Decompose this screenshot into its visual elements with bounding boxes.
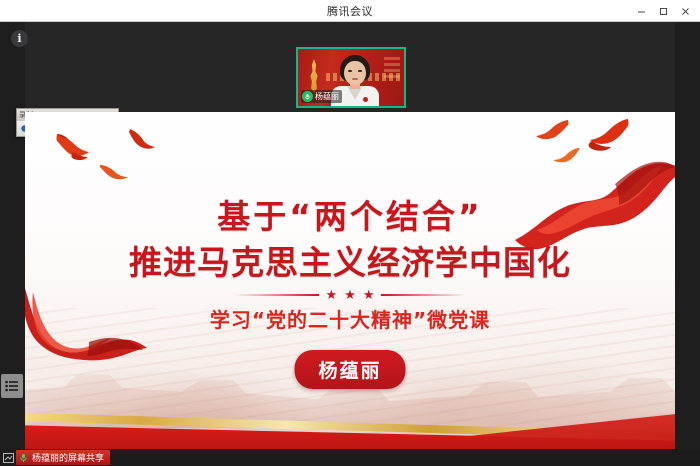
red-dove-icon [576,115,630,153]
presenter-name-badge[interactable]: 杨蕴丽 [294,350,405,389]
status-bar: 杨蕴丽的屏幕共享 [0,449,700,466]
star-divider: ★ ★ ★ [25,288,675,301]
title-bar: 腾讯会议 [0,0,700,22]
shared-slide: 基于“两个结合” 推进马克思主义经济学中国化 ★ ★ ★ 学习“党的二十大精神”… [25,112,675,466]
participant-name-label: 杨蕴丽 [315,91,339,102]
star-icon: ★ [363,288,375,301]
red-dove-icon [99,159,131,181]
divider-line-right [381,294,466,296]
microphone-icon [18,452,29,463]
slide-subtitle: 学习“党的二十大精神”微党课 [25,304,675,333]
window-icon[interactable] [0,449,16,466]
info-icon[interactable]: i [11,30,28,47]
self-view-video-tile[interactable]: 杨蕴丽 [296,47,406,108]
screen-share-status-badge[interactable]: 杨蕴丽的屏幕共享 [16,450,110,465]
meeting-stage: i 杨蕴丽 [0,22,700,466]
star-icon: ★ [326,288,338,301]
stage-left-strip [0,22,25,466]
list-menu-icon[interactable] [1,374,23,398]
microphone-icon [302,91,313,102]
window-controls [630,0,696,22]
red-dove-icon [128,126,158,152]
divider-line-left [234,294,319,296]
slide-title-line-2: 推进马克思主义经济学中国化 [25,236,675,284]
screen-share-label: 杨蕴丽的屏幕共享 [32,451,104,464]
slide-title-line-1: 基于“两个结合” [25,190,675,238]
tencent-meeting-window: 腾讯会议 i [0,0,700,466]
red-dove-icon [55,130,103,164]
red-dove-icon [530,117,570,145]
close-icon[interactable] [674,1,696,21]
window-title: 腾讯会议 [327,3,373,19]
stage-right-strip [675,22,700,466]
minimize-icon[interactable] [630,1,652,21]
star-icon: ★ [344,288,356,301]
banner-text-decoration-2 [384,57,400,79]
participant-name-badge: 杨蕴丽 [301,90,342,103]
maximize-icon[interactable] [652,1,674,21]
